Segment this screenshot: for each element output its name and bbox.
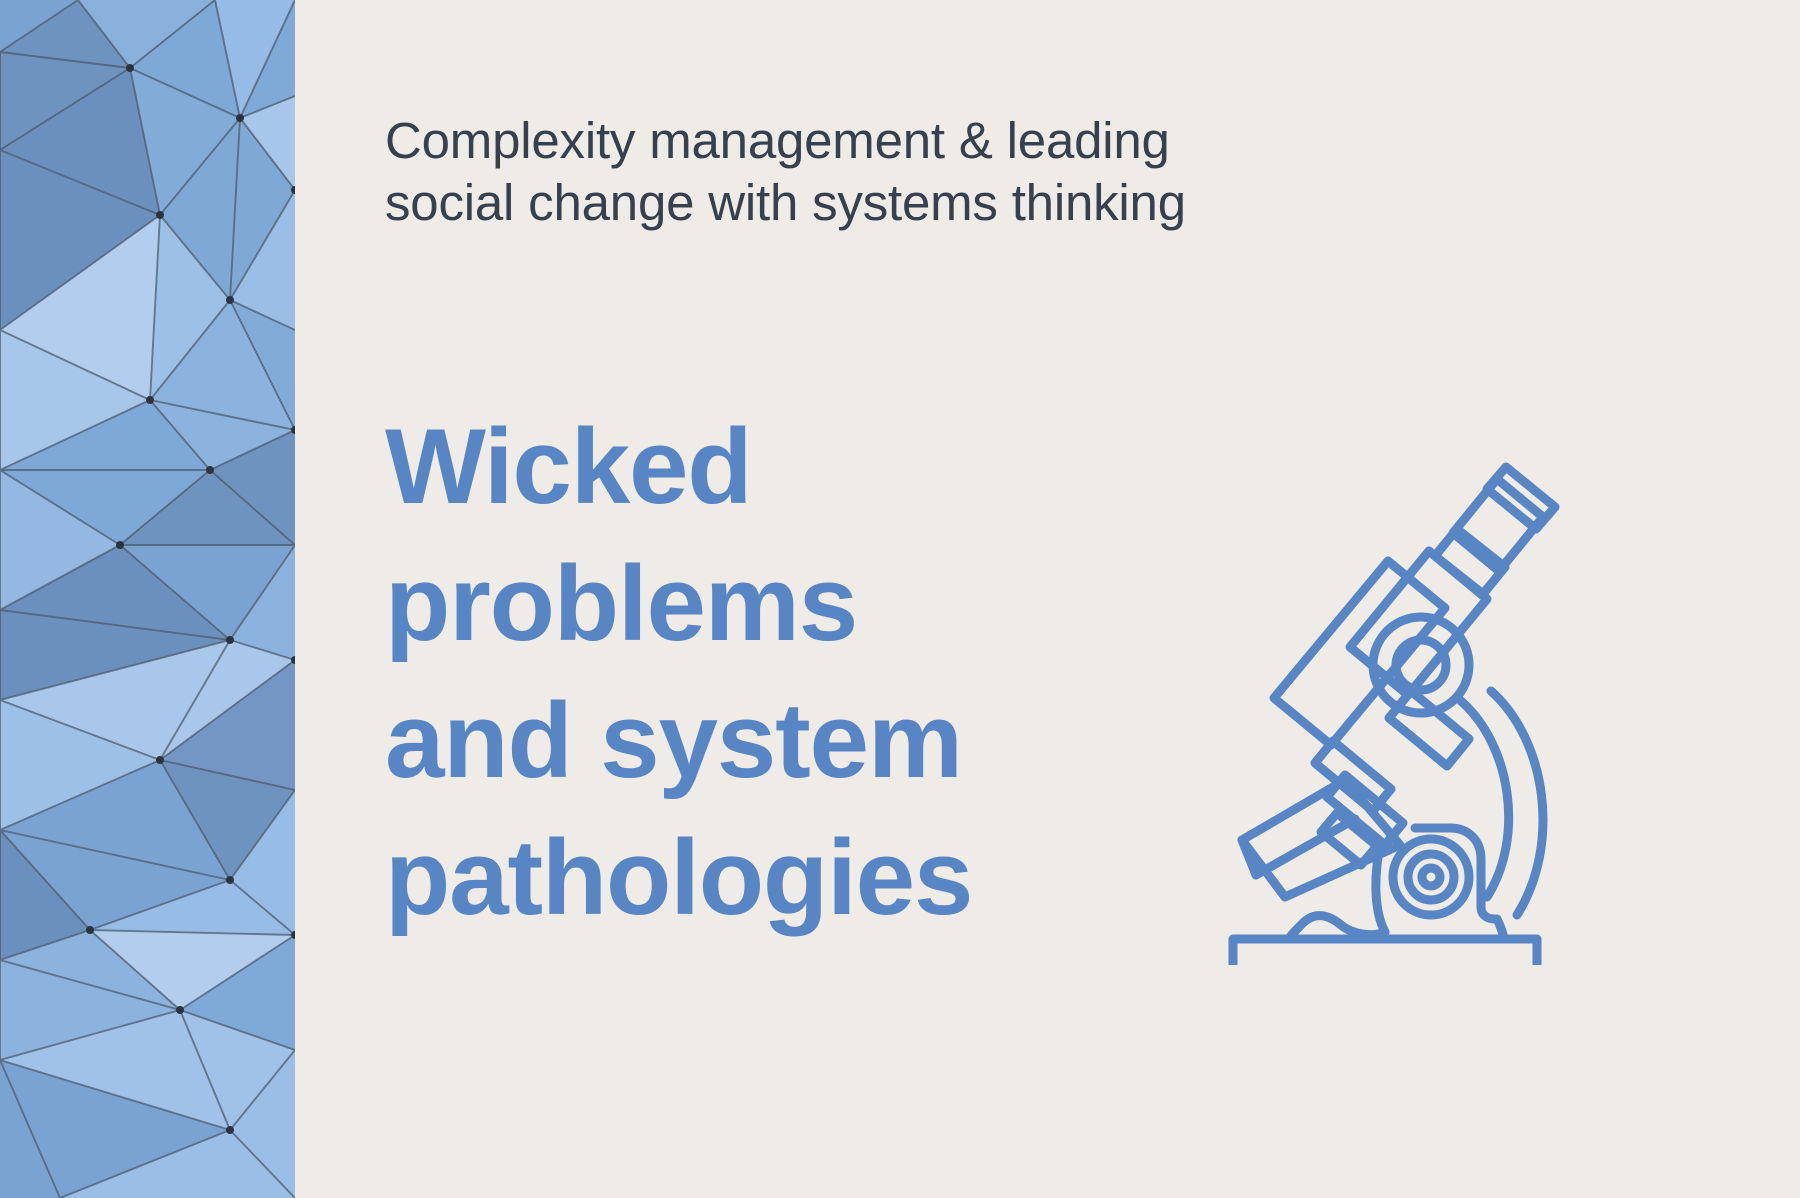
microscope-graphic xyxy=(1225,445,1615,965)
title-line-3: and system xyxy=(385,672,1165,809)
microscope-icon xyxy=(1225,445,1615,965)
slide-canvas: Complexity management & leading social c… xyxy=(0,0,1800,1198)
slide-subtitle: Complexity management & leading social c… xyxy=(385,110,1585,234)
title-line-1: Wicked xyxy=(385,398,1165,535)
subtitle-line-2: social change with systems thinking xyxy=(385,172,1585,234)
slide-title: Wicked problems and system pathologies xyxy=(385,398,1165,946)
title-line-2: problems xyxy=(385,535,1165,672)
subtitle-line-1: Complexity management & leading xyxy=(385,110,1585,172)
title-line-4: pathologies xyxy=(385,809,1165,946)
low-poly-triangle-panel xyxy=(0,0,295,1198)
low-poly-graphic xyxy=(0,0,295,1198)
